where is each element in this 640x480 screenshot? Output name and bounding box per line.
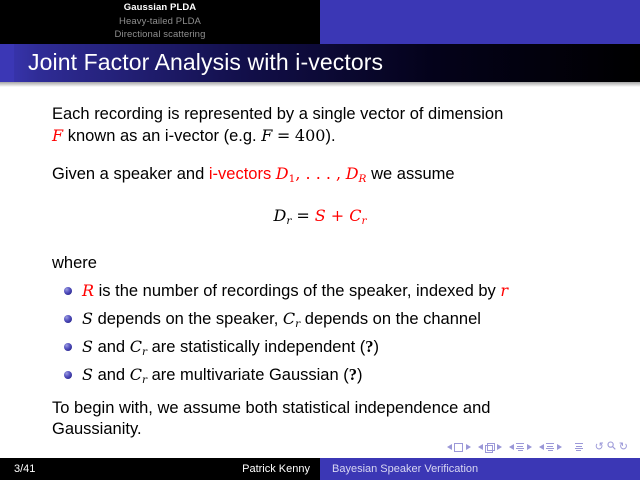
para3-line2-text: Gaussianity.: [52, 420, 142, 438]
citation-marker-1[interactable]: ?: [365, 337, 373, 356]
bullet-3-end-text: are statistically independent (: [152, 338, 366, 356]
bullet-dot-icon: [64, 315, 72, 323]
list-item: S depends on the speaker, Cr depends on …: [64, 309, 604, 337]
equation-decomposition: Dr = S + Cr: [0, 205, 640, 226]
symbol-D1-subscript: 1: [289, 173, 296, 185]
symbol-Cr-3-base: C: [130, 365, 142, 384]
nav-history-arrows[interactable]: ↺ ↻: [595, 441, 628, 453]
symbol-Cr-1: Cr: [283, 309, 300, 328]
beamer-navigation-symbols: ↺ ↻: [447, 440, 628, 454]
symbol-F-math: F: [261, 126, 272, 145]
top-navigation-bar: Gaussian PLDA Heavy-tailed PLDA Directio…: [0, 0, 640, 44]
topnav-item-gaussian-plda[interactable]: Gaussian PLDA: [0, 1, 320, 15]
bullet-dot-icon: [64, 371, 72, 379]
symbol-S-3: S: [82, 365, 93, 384]
ellipsis-D: , . . . ,: [295, 164, 341, 183]
symbol-D1: D1: [276, 164, 296, 183]
nav-subsection-group[interactable]: [509, 443, 532, 451]
para2-suffix-text: we assume: [371, 165, 454, 183]
para1-close-paren: ).: [325, 127, 335, 145]
back-arrow-icon[interactable]: ↺: [595, 442, 604, 453]
slide-title-bar: Joint Factor Analysis with i-vectors: [0, 44, 640, 82]
title-bar-shadow: [0, 82, 640, 87]
topnav-item-heavy-tailed-plda[interactable]: Heavy-tailed PLDA: [0, 15, 320, 29]
nav-section-group[interactable]: [539, 443, 562, 451]
symbol-DR: DR: [346, 164, 367, 183]
prev-frame-icon[interactable]: [478, 444, 483, 450]
symbol-Cr-2-subscript: r: [142, 346, 147, 358]
equation-rhs-C-base: C: [349, 206, 361, 225]
bullet-list: R is the number of recordings of the spe…: [64, 281, 604, 393]
nav-frame-group[interactable]: [478, 443, 502, 451]
bullet-dot-icon: [64, 287, 72, 295]
bullet-4-mid-text: and: [98, 366, 126, 384]
list-item: R is the number of recordings of the spe…: [64, 281, 604, 309]
bullet-2-mid-text: depends on the speaker,: [98, 310, 279, 328]
label-ivectors-red: i-vectors: [209, 165, 271, 183]
slide-footer: 3/41 Patrick Kenny Bayesian Speaker Veri…: [0, 458, 640, 480]
bullet-3-mid-text: and: [98, 338, 126, 356]
symbol-R-red: R: [82, 281, 94, 300]
title-bar-left-accent-strip: [0, 44, 14, 82]
equation-equals: =: [296, 206, 309, 225]
para1-line1-text: Each recording is represented by a singl…: [52, 105, 503, 123]
bullet-2-text: S depends on the speaker, Cr depends on …: [82, 309, 481, 331]
list-item: S and Cr are multivariate Gaussian (?): [64, 365, 604, 393]
subsection-lines-icon[interactable]: [516, 443, 524, 451]
symbol-F-red: F: [52, 126, 63, 145]
symbol-S-2: S: [82, 337, 93, 356]
prev-slide-icon[interactable]: [447, 444, 452, 450]
symbol-S-1: S: [82, 309, 93, 328]
para3-line1-text: To begin with, we assume both statistica…: [52, 399, 490, 417]
page-title: Joint Factor Analysis with i-vectors: [28, 49, 383, 76]
equation-rhs-C-subscript: r: [361, 215, 366, 227]
nav-slide-group[interactable]: [447, 443, 471, 452]
bullet-4-close-paren: ): [357, 366, 363, 384]
equation-rhs-C: Cr: [349, 206, 366, 225]
square-icon[interactable]: [454, 443, 463, 452]
symbol-Cr-2: Cr: [130, 337, 147, 356]
symbol-Cr-1-base: C: [283, 309, 295, 328]
next-subsection-icon[interactable]: [527, 444, 532, 450]
symbol-Cr-1-subscript: r: [295, 318, 300, 330]
footer-author: Patrick Kenny: [0, 463, 310, 475]
equals-sign-F: =: [277, 126, 290, 145]
top-navigation-items: Gaussian PLDA Heavy-tailed PLDA Directio…: [0, 1, 320, 42]
bullet-dot-icon: [64, 343, 72, 351]
value-400: 400: [295, 126, 326, 145]
topnav-item-directional-scattering[interactable]: Directional scattering: [0, 28, 320, 42]
next-slide-icon[interactable]: [466, 444, 471, 450]
bullet-4-end-text: are multivariate Gaussian (: [152, 366, 349, 384]
paragraph-recording-definition: Each recording is represented by a singl…: [52, 104, 612, 147]
bullet-2-end-text: depends on the channel: [305, 310, 481, 328]
bullet-3-text: S and Cr are statistically independent (…: [82, 337, 379, 359]
symbol-r-red: r: [500, 281, 508, 300]
document-lines-icon[interactable]: [575, 443, 583, 451]
footer-subject: Bayesian Speaker Verification: [332, 463, 478, 475]
para2-prefix-text: Given a speaker and: [52, 165, 204, 183]
frames-icon[interactable]: [485, 443, 494, 451]
bullet-3-close-paren: ): [374, 338, 380, 356]
equation-lhs-D: Dr: [273, 206, 291, 225]
next-section-icon[interactable]: [557, 444, 562, 450]
symbol-D1-base: D: [276, 164, 289, 183]
symbol-Cr-3: Cr: [130, 365, 147, 384]
forward-arrow-icon[interactable]: ↻: [619, 442, 628, 453]
symbol-Cr-2-base: C: [130, 337, 142, 356]
symbol-DR-subscript: R: [359, 173, 367, 185]
section-lines-icon[interactable]: [546, 443, 554, 451]
symbol-Cr-3-subscript: r: [142, 374, 147, 386]
equation-plus: +: [331, 206, 344, 225]
para1-line2-text: known as an i-vector (e.g.: [68, 127, 257, 145]
bullet-1-text: R is the number of recordings of the spe…: [82, 281, 508, 301]
prev-section-icon[interactable]: [539, 444, 544, 450]
label-where: where: [52, 253, 97, 274]
next-frame-icon[interactable]: [497, 444, 502, 450]
bullet-4-text: S and Cr are multivariate Gaussian (?): [82, 365, 363, 387]
bullet-1-mid-text: is the number of recordings of the speak…: [99, 282, 496, 300]
equation-lhs-base: D: [273, 206, 286, 225]
paragraph-to-begin-with: To begin with, we assume both statistica…: [52, 398, 622, 440]
equation-rhs-S: S: [315, 206, 326, 225]
prev-subsection-icon[interactable]: [509, 444, 514, 450]
symbol-DR-base: D: [346, 164, 359, 183]
paragraph-given-speaker: Given a speaker and i-vectors D1, . . . …: [52, 163, 612, 187]
search-icon[interactable]: [607, 441, 616, 453]
equation-lhs-subscript: r: [286, 215, 291, 227]
citation-marker-2[interactable]: ?: [349, 365, 357, 384]
list-item: S and Cr are statistically independent (…: [64, 337, 604, 365]
